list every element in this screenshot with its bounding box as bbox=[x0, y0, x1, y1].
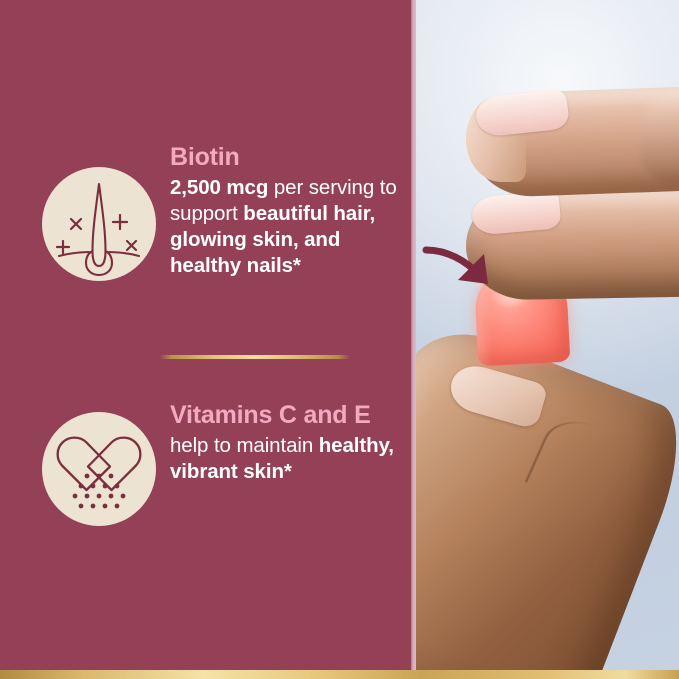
product-feature-graphic: Biotin 2,500 mcg per serving to support … bbox=[0, 0, 679, 679]
feature-text-vitamins: Vitamins C and E help to maintain health… bbox=[170, 402, 410, 485]
biotin-dose: 2,500 mcg bbox=[170, 176, 268, 199]
open-capsule-icon bbox=[42, 412, 156, 526]
feature-text-biotin: Biotin 2,500 mcg per serving to support … bbox=[170, 144, 400, 279]
bottom-gold-bar bbox=[0, 670, 679, 679]
vitamins-body-plain: help to maintain bbox=[170, 434, 319, 457]
section-divider bbox=[160, 355, 350, 359]
hair-follicle-icon bbox=[42, 167, 156, 281]
feature-panel: Biotin 2,500 mcg per serving to support … bbox=[0, 0, 411, 679]
feature-title-biotin: Biotin bbox=[170, 144, 400, 171]
index-finger-knuckle bbox=[638, 92, 679, 186]
pointer-arrow-icon bbox=[422, 236, 518, 308]
product-photo bbox=[416, 0, 679, 679]
feature-body-vitamins: help to maintain healthy, vibrant skin* bbox=[170, 433, 410, 485]
feature-body-biotin: 2,500 mcg per serving to support beautif… bbox=[170, 175, 400, 279]
feature-title-vitamins: Vitamins C and E bbox=[170, 402, 410, 429]
